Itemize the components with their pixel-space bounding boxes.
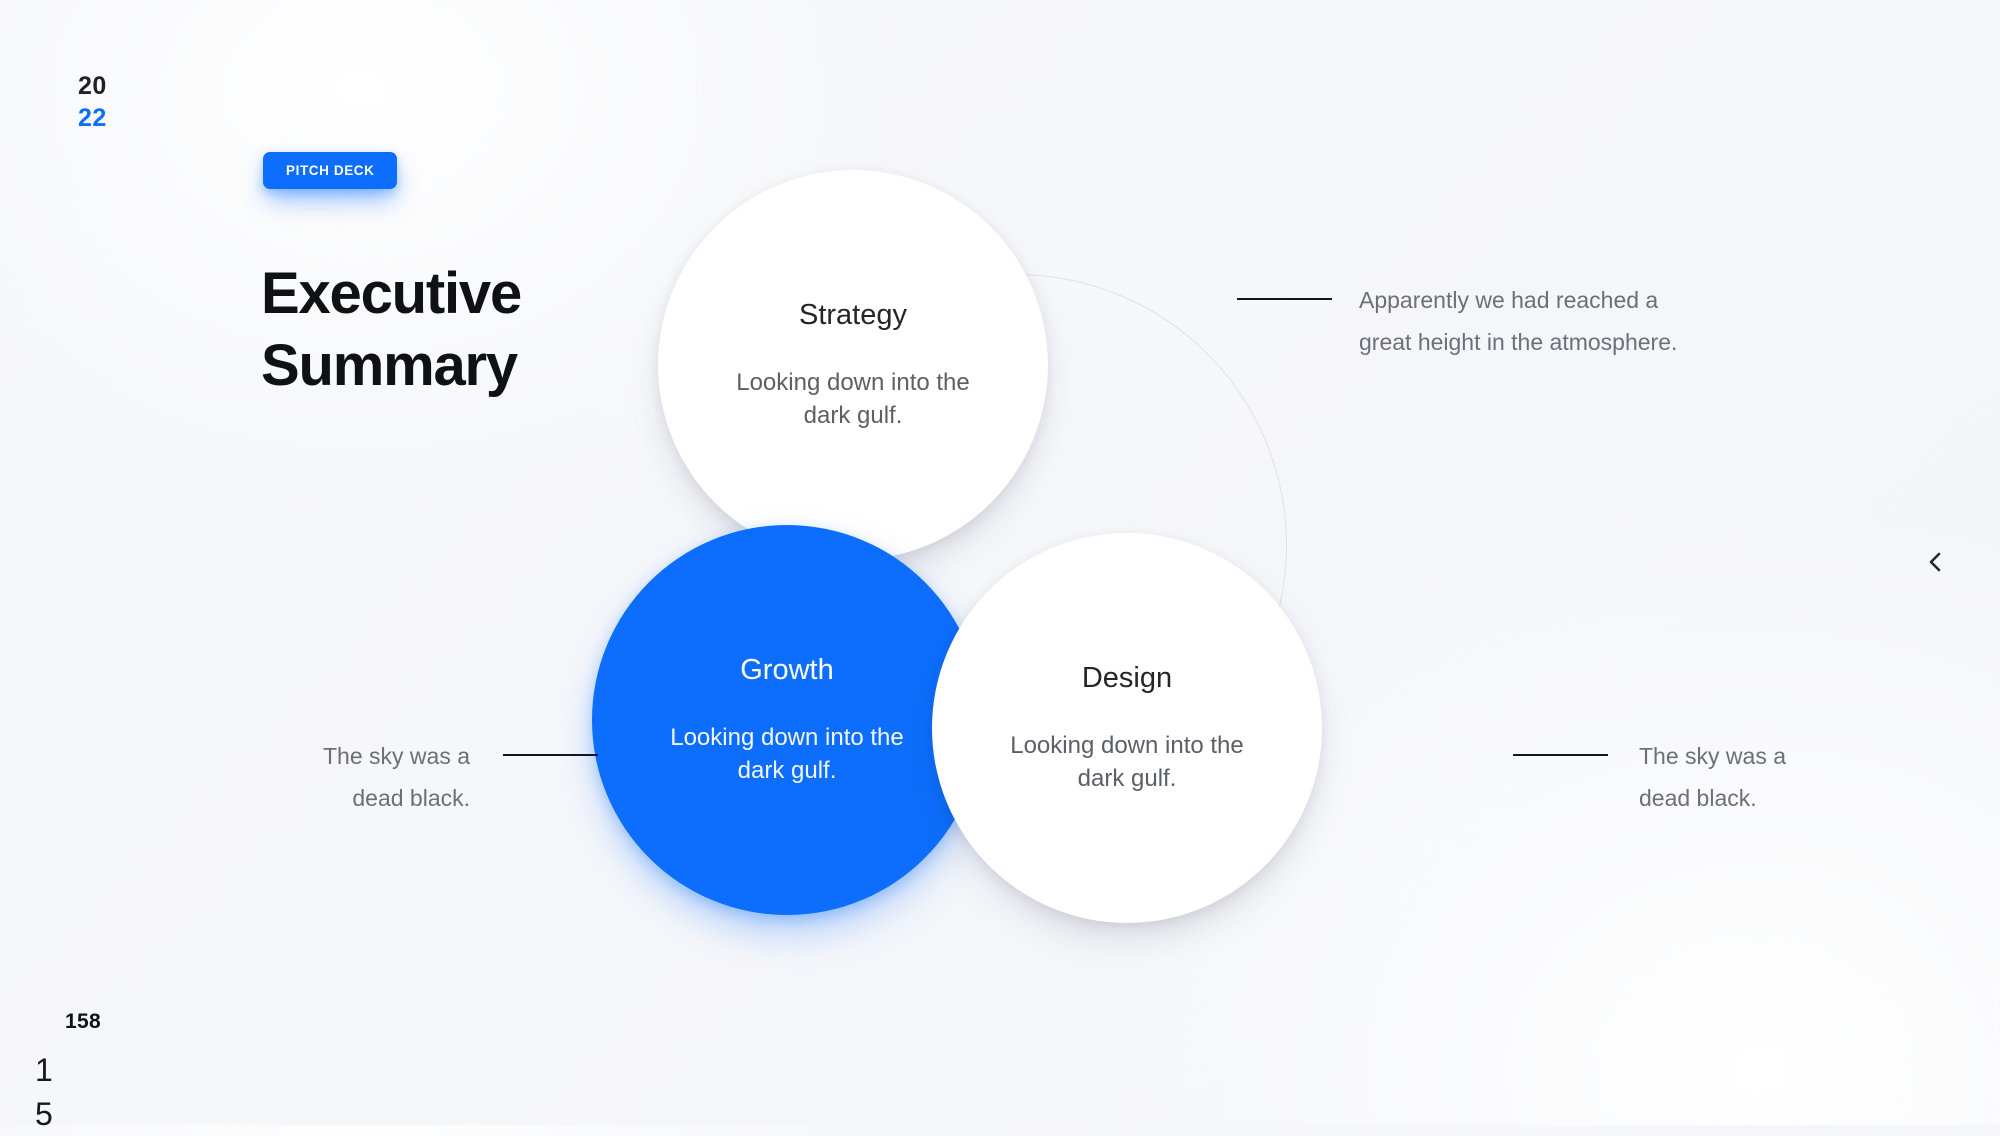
page-number-digit-2: 5 — [35, 1092, 53, 1136]
bubble-strategy-body: Looking down into the dark gulf. — [726, 366, 981, 432]
bubble-design-title: Design — [1082, 661, 1172, 695]
annotation-growth: The sky was a dead black. — [285, 735, 598, 819]
page-count: 158 — [65, 1010, 101, 1034]
connector-line — [1237, 298, 1332, 300]
year-stamp: 20 22 — [78, 70, 107, 134]
bubble-growth-title: Growth — [740, 653, 833, 687]
bubble-strategy-title: Strategy — [799, 298, 907, 332]
connector-line — [503, 754, 598, 756]
year-bottom: 22 — [78, 102, 107, 134]
annotation-design-text: The sky was a dead black. — [1639, 735, 1839, 819]
annotation-design: The sky was a dead black. — [1513, 735, 1839, 819]
slide-canvas: 20 22 PITCH DECK Executive Summary Strat… — [0, 0, 2000, 1125]
bubble-design-body: Looking down into the dark gulf. — [1000, 729, 1255, 795]
prev-slide-button[interactable] — [1918, 545, 1952, 579]
bubble-strategy[interactable]: Strategy Looking down into the dark gulf… — [658, 170, 1048, 560]
chevron-left-icon — [1922, 549, 1948, 575]
annotation-growth-text: The sky was a dead black. — [285, 735, 470, 819]
year-top: 20 — [78, 70, 107, 102]
bubble-growth[interactable]: Growth Looking down into the dark gulf. — [592, 525, 982, 915]
bubble-growth-body: Looking down into the dark gulf. — [660, 721, 915, 787]
annotation-strategy: Apparently we had reached a great height… — [1237, 279, 1689, 363]
bubble-design[interactable]: Design Looking down into the dark gulf. — [932, 533, 1322, 923]
badge-container: PITCH DECK — [263, 152, 397, 189]
connector-line — [1513, 754, 1608, 756]
page-number-stack: 1 5 — [35, 1048, 53, 1136]
pitch-deck-badge[interactable]: PITCH DECK — [263, 152, 397, 189]
page-number-digit-1: 1 — [35, 1048, 53, 1092]
annotation-strategy-text: Apparently we had reached a great height… — [1359, 279, 1689, 363]
